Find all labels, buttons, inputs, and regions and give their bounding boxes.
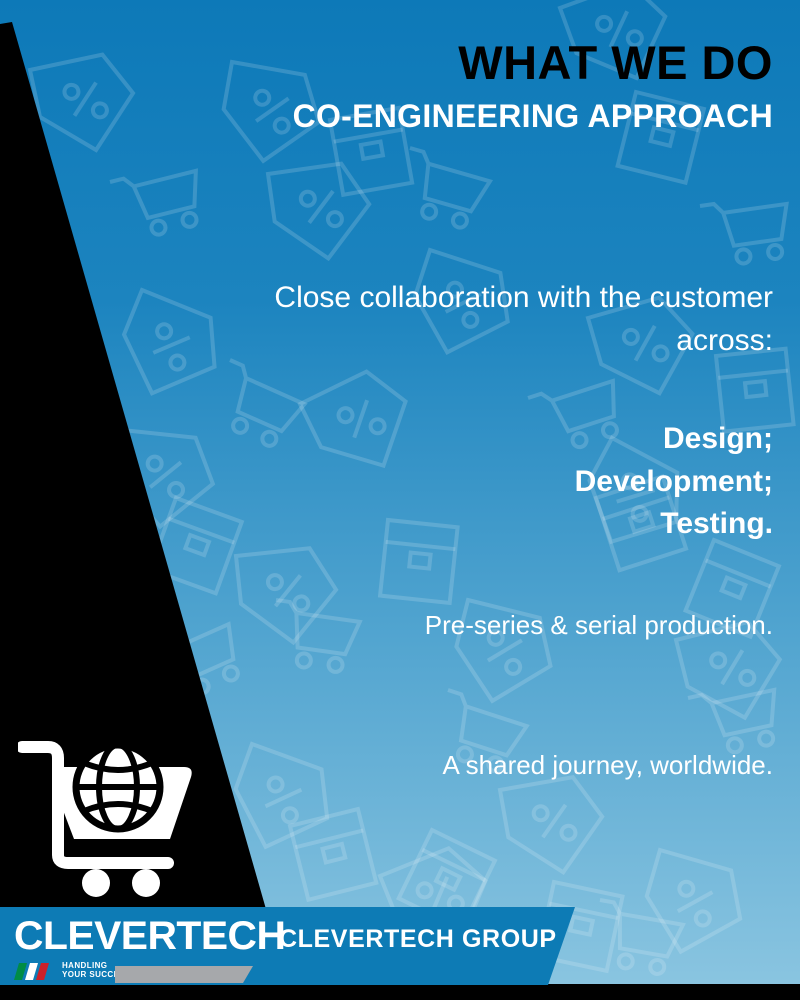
group-label: CLEVERTECH GROUP xyxy=(279,925,557,954)
brand-accent-bar xyxy=(115,966,253,983)
body-line: Testing. xyxy=(173,503,773,546)
body-line: across: xyxy=(173,320,773,363)
page-subtitle: CO-ENGINEERING APPROACH xyxy=(153,99,773,134)
body-paragraph-disciplines: Design; Development; Testing. xyxy=(173,418,773,546)
poster-canvas: WHAT WE DO CO-ENGINEERING APPROACH Close… xyxy=(0,0,800,1000)
body-line: A shared journey, worldwide. xyxy=(173,747,773,783)
body-paragraph-collaboration: Close collaboration with the customer ac… xyxy=(173,277,773,362)
shopping-cart-globe-icon xyxy=(18,735,208,900)
body-line: Close collaboration with the customer xyxy=(173,277,773,320)
brand-name: CLEVERTECH xyxy=(14,916,279,956)
page-title: WHAT WE DO xyxy=(153,38,773,87)
body-line: Pre-series & serial production. xyxy=(173,607,773,643)
header-block: WHAT WE DO CO-ENGINEERING APPROACH xyxy=(153,38,773,135)
body-paragraph-production: Pre-series & serial production. xyxy=(173,607,773,643)
body-line: Development; xyxy=(173,461,773,504)
italian-flag-icon xyxy=(14,963,56,980)
body-line: Design; xyxy=(173,418,773,461)
body-paragraph-journey: A shared journey, worldwide. xyxy=(173,747,773,783)
